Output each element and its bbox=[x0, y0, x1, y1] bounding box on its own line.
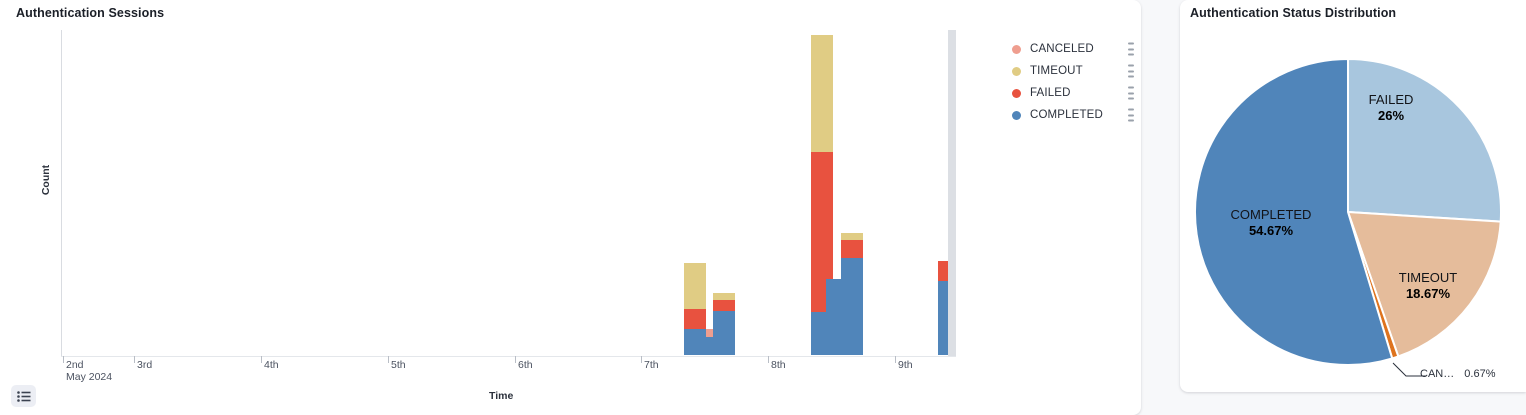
pie-label-completed-pct: 54.67% bbox=[1211, 223, 1331, 239]
list-icon[interactable] bbox=[11, 385, 36, 407]
x-axis-tick-label: 2ndMay 2024 bbox=[66, 360, 112, 383]
pie-label-completed-name: COMPLETED bbox=[1211, 207, 1331, 223]
more-vertical-icon[interactable] bbox=[1127, 43, 1134, 56]
legend-item-label: CANCELED bbox=[1030, 43, 1094, 55]
x-axis-tick-label: 4th bbox=[264, 360, 279, 372]
legend-item-label: COMPLETED bbox=[1030, 109, 1103, 121]
bar-segment-failed[interactable] bbox=[684, 309, 706, 329]
x-axis-line bbox=[61, 356, 956, 357]
x-axis-tick-label: 6th bbox=[518, 360, 533, 372]
bar-segment-timeout[interactable] bbox=[811, 35, 833, 152]
more-vertical-icon[interactable] bbox=[1127, 65, 1134, 78]
x-axis-tick-label: 9th bbox=[898, 360, 913, 372]
pie-label-canceled-pct: 0.67% bbox=[1464, 368, 1495, 380]
bar-segment-timeout[interactable] bbox=[841, 233, 863, 240]
bar-segment-failed[interactable] bbox=[841, 240, 863, 258]
x-axis-tick bbox=[641, 356, 642, 363]
x-axis-tick bbox=[134, 356, 135, 363]
pie-slice-failed[interactable] bbox=[1348, 59, 1501, 222]
bar-segment-timeout[interactable] bbox=[713, 293, 735, 300]
legend-item-label: FAILED bbox=[1030, 87, 1071, 99]
x-axis-tick-label: 3rd bbox=[137, 360, 152, 372]
x-axis-tick-label: 5th bbox=[391, 360, 406, 372]
x-axis-tick bbox=[261, 356, 262, 363]
bar-segment-completed[interactable] bbox=[713, 311, 735, 355]
pie-label-canceled: CAN… 0.67% bbox=[1420, 368, 1496, 380]
pie-label-timeout-pct: 18.67% bbox=[1378, 286, 1478, 302]
bar-segment-completed[interactable] bbox=[841, 258, 863, 355]
more-vertical-icon[interactable] bbox=[1127, 87, 1134, 100]
bar-segment-completed[interactable] bbox=[684, 329, 706, 355]
bar-column[interactable] bbox=[684, 263, 706, 355]
bar-column[interactable] bbox=[713, 293, 735, 355]
dashboard-root: Authentication Sessions 2ndMay 20243rd4t… bbox=[0, 0, 1526, 415]
pie-label-failed-pct: 26% bbox=[1341, 108, 1441, 124]
authentication-status-distribution-panel: Authentication Status Distribution bbox=[1180, 0, 1526, 392]
x-axis-tick-sublabel: May 2024 bbox=[66, 372, 112, 384]
pie-label-timeout-name: TIMEOUT bbox=[1378, 270, 1478, 286]
pie-label-timeout: TIMEOUT 18.67% bbox=[1378, 270, 1478, 302]
bar-segment-timeout[interactable] bbox=[684, 263, 706, 309]
legend-item-canceled[interactable]: CANCELED bbox=[1012, 38, 1140, 60]
pie-label-completed: COMPLETED 54.67% bbox=[1211, 207, 1331, 239]
pie-chart[interactable] bbox=[1180, 0, 1526, 392]
x-axis-tick bbox=[515, 356, 516, 363]
legend-color-dot bbox=[1012, 67, 1021, 76]
pie-label-canceled-name: CAN… bbox=[1420, 368, 1454, 380]
bar-segment-failed[interactable] bbox=[713, 300, 735, 311]
legend-color-dot bbox=[1012, 45, 1021, 54]
legend-item-timeout[interactable]: TIMEOUT bbox=[1012, 60, 1140, 82]
x-axis-tick-label: 8th bbox=[771, 360, 786, 372]
pie-label-failed: FAILED 26% bbox=[1341, 92, 1441, 124]
x-axis-tick bbox=[388, 356, 389, 363]
x-axis-tick bbox=[895, 356, 896, 363]
bar-plot-area[interactable] bbox=[61, 30, 956, 355]
chart-legend[interactable]: CANCELEDTIMEOUTFAILEDCOMPLETED bbox=[1012, 38, 1140, 126]
x-axis-tick-label: 7th bbox=[644, 360, 659, 372]
y-axis-title: Count bbox=[40, 165, 52, 195]
x-axis-title: Time bbox=[489, 390, 513, 402]
x-axis-tick bbox=[63, 356, 64, 363]
authentication-sessions-panel: Authentication Sessions 2ndMay 20243rd4t… bbox=[0, 0, 1141, 415]
more-vertical-icon[interactable] bbox=[1127, 109, 1134, 122]
legend-item-failed[interactable]: FAILED bbox=[1012, 82, 1140, 104]
hover-cursor-band bbox=[948, 30, 956, 356]
legend-item-completed[interactable]: COMPLETED bbox=[1012, 104, 1140, 126]
bar-column[interactable] bbox=[841, 233, 863, 355]
legend-color-dot bbox=[1012, 111, 1021, 120]
legend-item-label: TIMEOUT bbox=[1030, 65, 1083, 77]
bar-chart[interactable]: 2ndMay 20243rd4th5th6th7th8th9th bbox=[0, 0, 1141, 415]
x-axis-tick bbox=[768, 356, 769, 363]
pie-label-failed-name: FAILED bbox=[1341, 92, 1441, 108]
legend-color-dot bbox=[1012, 89, 1021, 98]
